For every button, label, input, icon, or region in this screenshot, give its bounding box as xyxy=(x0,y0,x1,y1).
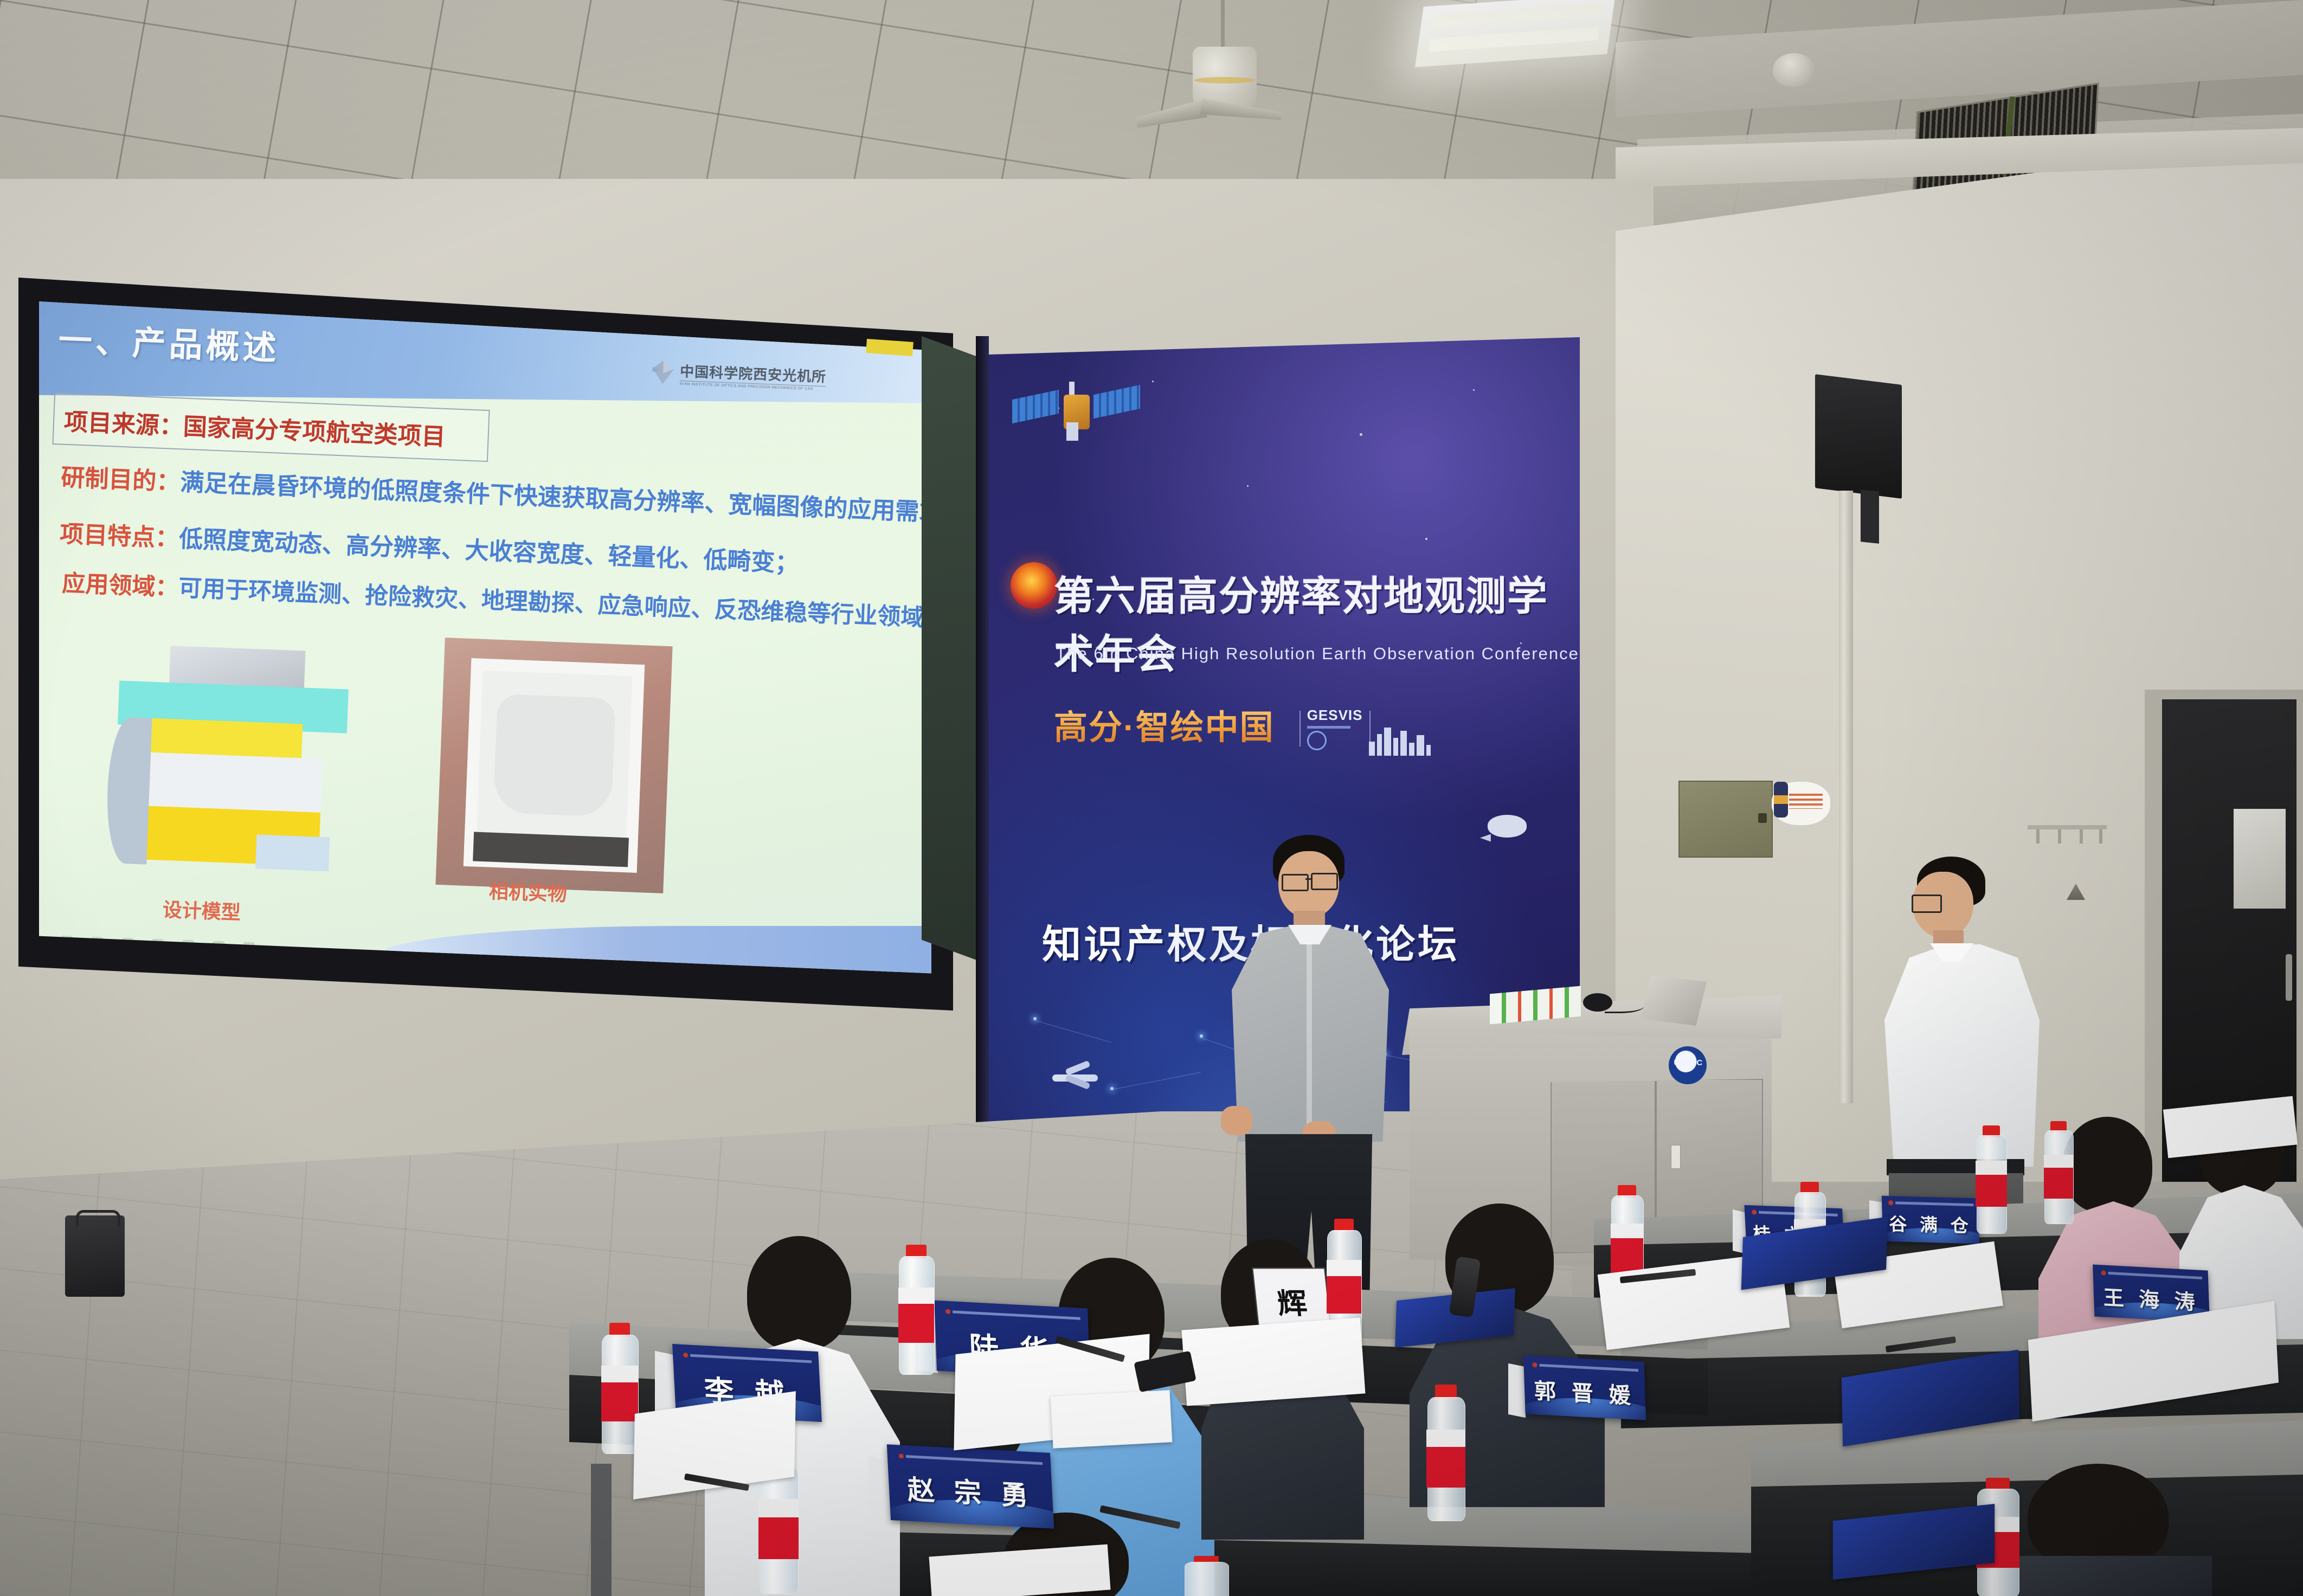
wall-speaker xyxy=(1815,374,1902,499)
seated-attendee-5-head xyxy=(2062,1117,2152,1213)
water-bottle-1[interactable] xyxy=(600,1323,640,1453)
slide-bullet-1-text: 满足在晨昏环境的低照度条件下快速获取高分辨率、宽幅图像的应用需求； xyxy=(179,469,931,527)
banner-sponsor-text: GESVIS xyxy=(1307,707,1363,724)
slide-title: 一、产品概述 xyxy=(57,312,280,370)
placard-zhaozongyong: 赵 宗 勇 xyxy=(887,1444,1054,1529)
banner-slogan: 高分·智绘中国 xyxy=(1054,700,1275,749)
ceiling-fan-rod xyxy=(1221,0,1225,50)
slide-bullet-1: 研制目的：满足在晨昏环境的低照度条件下快速获取高分辨率、宽幅图像的应用需求； xyxy=(60,458,931,529)
standing-attendee-glasses xyxy=(1912,894,1942,913)
room-photo-scene: 一、产品概述 中国科学院西安光机所 XI'AN INSTITUTE OF OPT… xyxy=(0,0,2303,1596)
slide-bullet-3-text: 可用于环境监测、抢险救灾、地理勘探、应急响应、反恐维稳等行业领域。 xyxy=(178,575,931,632)
floor-speaker-handle xyxy=(76,1210,120,1227)
water-bottle-8[interactable] xyxy=(1974,1125,2008,1233)
banner-title-en: The 6th China High Resolution Earth Obse… xyxy=(1056,644,1579,664)
projected-slide: 一、产品概述 中国科学院西安光机所 XI'AN INSTITUTE OF OPT… xyxy=(39,301,931,980)
slide-design-model-image xyxy=(104,643,374,897)
slide-bullet-2-text: 低照度宽动态、高分辨率、大收容宽度、轻量化、低畸变； xyxy=(178,525,799,577)
utility-box-latch xyxy=(1758,813,1767,823)
ceiling-fan-ring xyxy=(1194,77,1255,83)
seated-attendee-1-head xyxy=(747,1236,851,1351)
placard-guojinyuan: 郭 晋 媛 xyxy=(1523,1355,1646,1420)
wall-hook-3 xyxy=(2080,829,2083,844)
podium-logo-text: UESTC xyxy=(1673,1058,1703,1067)
water-bottle-11[interactable] xyxy=(1182,1556,1231,1596)
handout-9[interactable] xyxy=(1051,1390,1173,1448)
speaker-glasses xyxy=(1282,874,1309,891)
wall-hook-1 xyxy=(2036,829,2040,844)
placard-guojinyuan-name: 郭 晋 媛 xyxy=(1524,1373,1646,1411)
placard-wanghaitao-name: 王 海 涛 xyxy=(2093,1280,2209,1316)
smoke-detector xyxy=(1773,53,1815,87)
floor-speaker-box xyxy=(65,1215,125,1297)
water-bottle-3[interactable] xyxy=(897,1245,936,1374)
institute-logo-mark xyxy=(650,359,676,386)
door-window xyxy=(2234,809,2286,909)
speaker-shirt-placket xyxy=(1307,943,1312,1136)
banner-sponsor-mark: GESVIS xyxy=(1300,707,1371,750)
banner-airship-icon xyxy=(1488,815,1527,838)
slide-bullet-2-label: 项目特点： xyxy=(59,521,179,552)
slide-camera-photo xyxy=(435,638,672,893)
speaker-hand-left xyxy=(1221,1106,1252,1135)
door-handle[interactable] xyxy=(2286,954,2292,1001)
wall-hook-rail xyxy=(2028,825,2107,829)
speaker-glasses-bridge xyxy=(1305,878,1311,880)
podium-door-handle[interactable] xyxy=(1671,1145,1681,1169)
placard-gumancang-name: 谷 满 仓 xyxy=(1882,1209,1979,1238)
water-bottle-9[interactable] xyxy=(2043,1121,2074,1223)
seated-attendee-8 xyxy=(1995,1464,2212,1596)
podium-laptop-lid[interactable] xyxy=(1641,976,1707,1026)
placard-hui-name: 辉 xyxy=(1275,1279,1309,1322)
slide-bullet-3: 应用领域：可用于环境监测、抢险救灾、地理勘探、应急响应、反恐维稳等行业领域。 xyxy=(61,564,931,634)
placard-gumancang: 谷 满 仓 xyxy=(1882,1196,1979,1244)
safety-sticker-figure xyxy=(1774,782,1788,818)
handout-4[interactable] xyxy=(1182,1318,1366,1406)
desk-left-leg xyxy=(591,1464,612,1596)
slide-bullet-3-label: 应用领域： xyxy=(62,570,179,601)
speaker-glasses-right xyxy=(1311,873,1338,890)
wall-pipe xyxy=(1839,491,1853,1103)
seated-attendee-8-shirt xyxy=(1995,1556,2212,1596)
standing-attendee-shirt xyxy=(1884,944,2040,1167)
wall-hook-2 xyxy=(2058,829,2061,844)
slide-caption-left: 设计模型 xyxy=(162,894,241,925)
banner-satellite-icon xyxy=(1009,372,1145,453)
banner-emblem xyxy=(1011,562,1057,609)
banner-skyline-icon xyxy=(1369,728,1431,756)
banner-airship-fin xyxy=(1480,834,1491,842)
slide-bullet-1-label: 研制目的： xyxy=(61,464,181,495)
slide-caption-right: 相机实物 xyxy=(488,876,568,906)
wall-speaker-bracket xyxy=(1861,490,1879,544)
water-bottle-5[interactable] xyxy=(1425,1385,1467,1520)
banner-frame-left xyxy=(976,336,989,1212)
safety-sticker-text xyxy=(1789,794,1823,809)
speaker-person xyxy=(1209,835,1410,1301)
wall-hook-4 xyxy=(2099,829,2102,844)
placard-base-guo xyxy=(1508,1363,1526,1418)
